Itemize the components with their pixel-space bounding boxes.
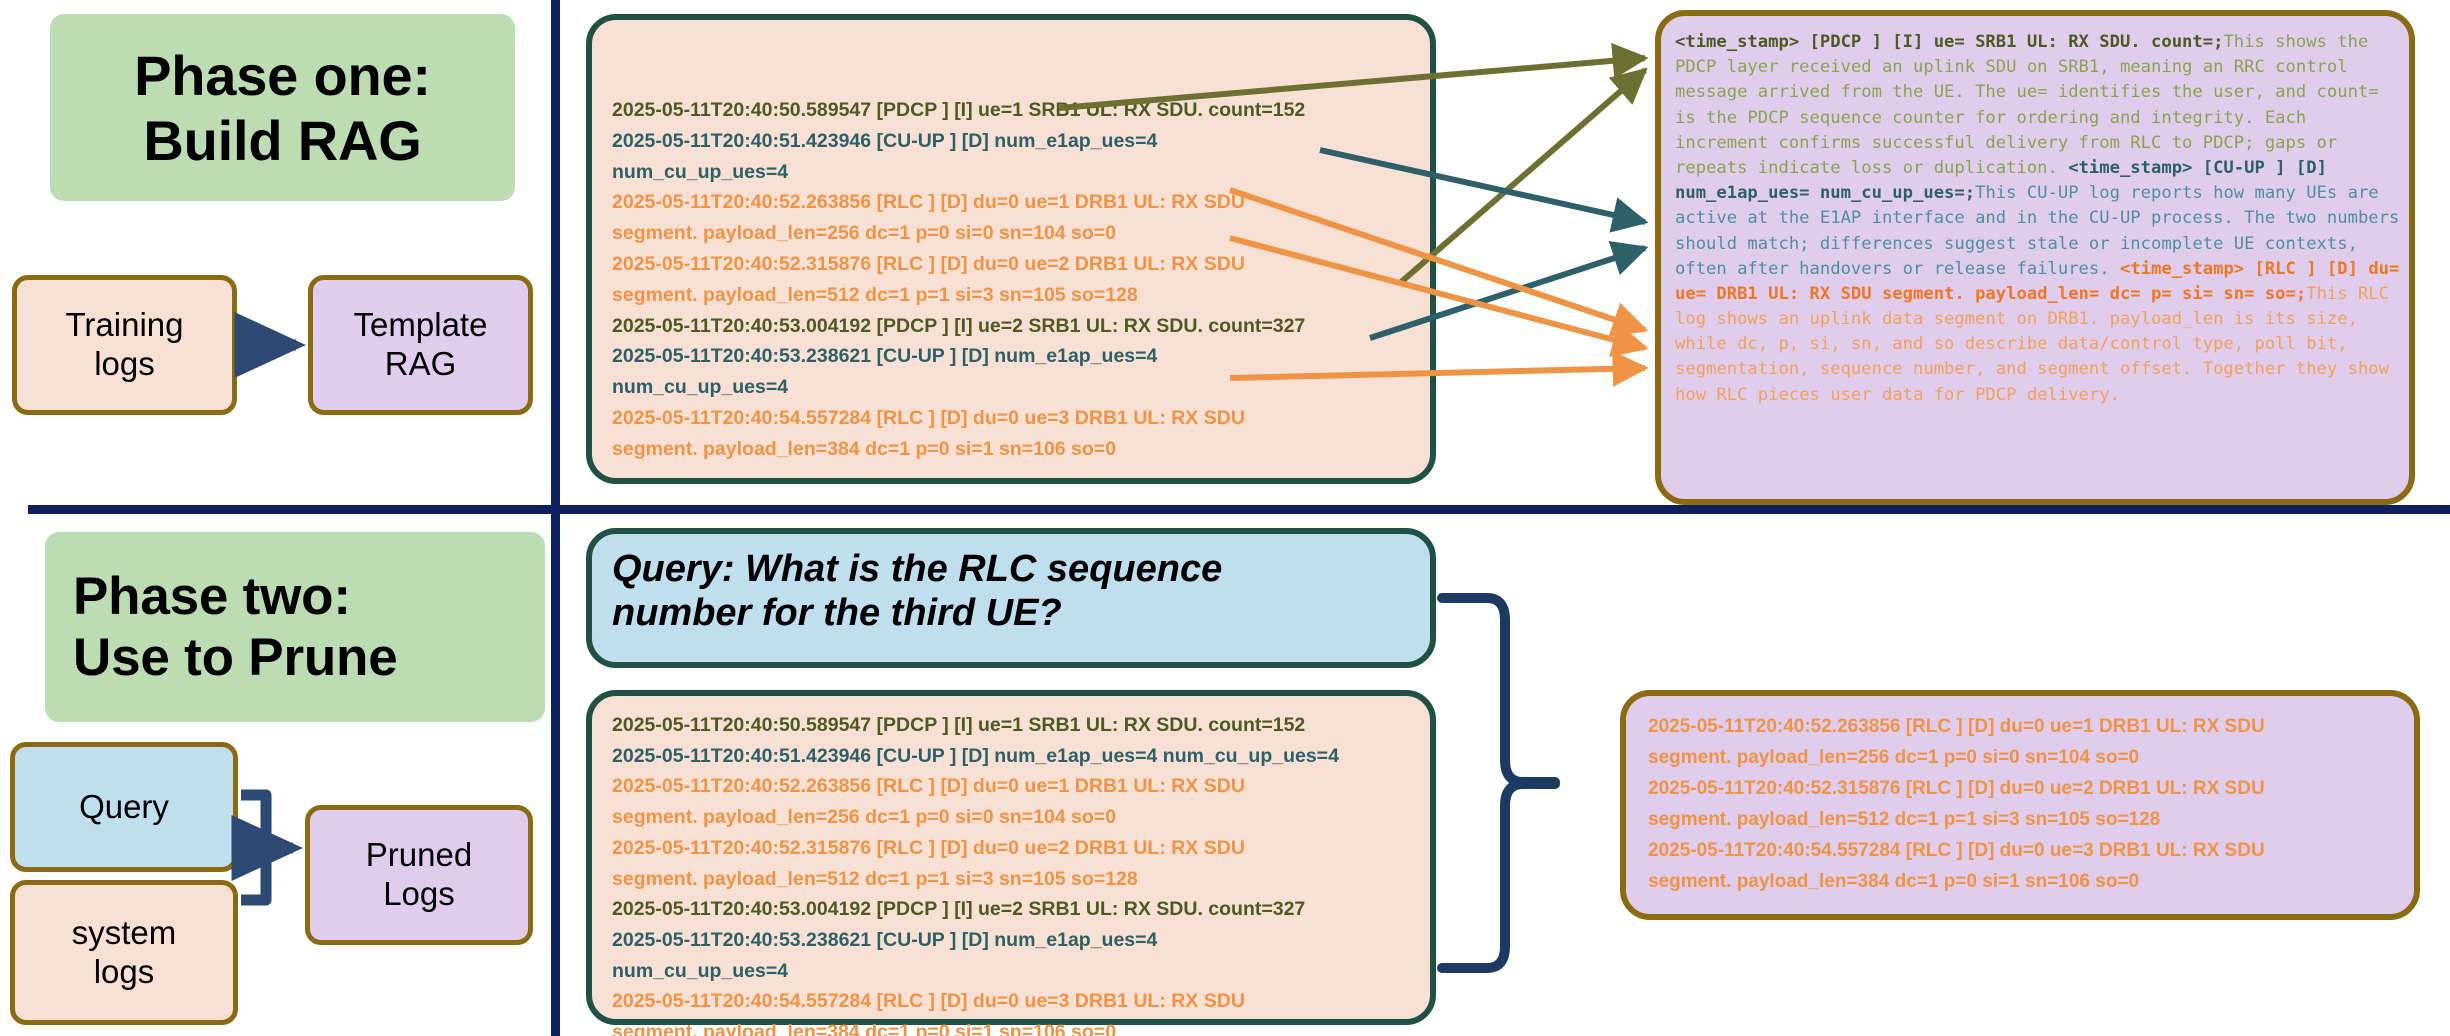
diagram-canvas: Phase one: Build RAG Training logs Templ… — [0, 0, 2450, 1036]
template-rag-box[interactable]: Template RAG — [308, 275, 533, 415]
query-text: Query: What is the RLC sequence number f… — [612, 547, 1422, 635]
phase-two-log-line: 2025-05-11T20:40:53.004192 [PDCP ] [I] u… — [612, 894, 1424, 925]
phase-one-explanation-text: <time_stamp> [PDCP ] [I] ue= SRB1 UL: RX… — [1675, 30, 2405, 408]
explanation-body: This shows the PDCP layer received an up… — [1675, 32, 2389, 178]
vertical-divider-top — [551, 0, 560, 508]
phase-two-log-line: 2025-05-11T20:40:53.238621 [CU-UP ] [D] … — [612, 925, 1424, 956]
pruned-log-line: segment. payload_len=512 dc=1 p=1 si=3 s… — [1648, 805, 2418, 836]
phase-one-banner: Phase one: Build RAG — [50, 14, 515, 201]
phase-one-log-line: 2025-05-11T20:40:50.589547 [PDCP ] [I] u… — [612, 95, 1422, 126]
phase-two-log-line: 2025-05-11T20:40:50.589547 [PDCP ] [I] u… — [612, 710, 1424, 741]
vertical-divider-bottom — [551, 514, 560, 1036]
phase-one-log-text: 2025-05-11T20:40:50.589547 [PDCP ] [I] u… — [612, 95, 1422, 465]
phase-two-title-line2: Use to Prune — [73, 627, 398, 688]
phase-one-log-line: num_cu_up_ues=4 — [612, 372, 1422, 403]
pruned-log-line: segment. payload_len=256 dc=1 p=0 si=0 s… — [1648, 743, 2418, 774]
phase-one-title-line1: Phase one: — [134, 43, 431, 108]
horizontal-divider — [28, 505, 2450, 514]
phase-two-log-line: segment. payload_len=384 dc=1 p=0 si=1 s… — [612, 1017, 1424, 1036]
phase-one-log-line: num_cu_up_ues=4 — [612, 157, 1422, 188]
phase-two-log-line: 2025-05-11T20:40:52.263856 [RLC ] [D] du… — [612, 771, 1424, 802]
query-line-1: Query: What is the RLC sequence — [612, 548, 1222, 590]
phase-two-log-line: segment. payload_len=256 dc=1 p=0 si=0 s… — [612, 802, 1424, 833]
phase-two-log-line: num_cu_up_ues=4 — [612, 956, 1424, 987]
phase-two-banner: Phase two: Use to Prune — [45, 532, 545, 722]
phase-one-log-line: segment. payload_len=256 dc=1 p=0 si=0 s… — [612, 218, 1422, 249]
explanation-block: <time_stamp> [RLC ] [D] du= ue= DRB1 UL:… — [1675, 259, 2410, 405]
pruned-log-line: segment. payload_len=384 dc=1 p=0 si=1 s… — [1648, 867, 2418, 898]
phase-one-log-line: segment. payload_len=512 dc=1 p=1 si=3 s… — [612, 280, 1422, 311]
phase-one-log-line: 2025-05-11T20:40:52.263856 [RLC ] [D] du… — [612, 187, 1422, 218]
phase-one-log-line: 2025-05-11T20:40:53.238621 [CU-UP ] [D] … — [612, 341, 1422, 372]
phase-two-log-line: 2025-05-11T20:40:51.423946 [CU-UP ] [D] … — [612, 741, 1424, 772]
phase-one-log-line: 2025-05-11T20:40:53.004192 [PDCP ] [I] u… — [612, 311, 1422, 342]
pruned-log-line: 2025-05-11T20:40:52.315876 [RLC ] [D] du… — [1648, 774, 2418, 805]
arrow-pdcp-2 — [1400, 70, 1645, 283]
pruned-log-line: 2025-05-11T20:40:54.557284 [RLC ] [D] du… — [1648, 836, 2418, 867]
phase-two-log-line: 2025-05-11T20:40:52.315876 [RLC ] [D] du… — [612, 833, 1424, 864]
phase-one-log-line: 2025-05-11T20:40:51.423946 [CU-UP ] [D] … — [612, 126, 1422, 157]
query-input-label: Query — [79, 788, 169, 827]
pruned-output-text: 2025-05-11T20:40:52.263856 [RLC ] [D] du… — [1648, 712, 2418, 898]
explanation-block: <time_stamp> [PDCP ] [I] ue= SRB1 UL: RX… — [1675, 32, 2389, 178]
phase-two-log-text: 2025-05-11T20:40:50.589547 [PDCP ] [I] u… — [612, 710, 1424, 1036]
training-logs-label: Training logs — [66, 306, 184, 384]
explanation-header: <time_stamp> [PDCP ] [I] ue= SRB1 UL: RX… — [1675, 32, 2223, 52]
query-input-box[interactable]: Query — [10, 742, 238, 872]
arrow-inputs-to-pruned — [241, 795, 293, 900]
training-logs-box[interactable]: Training logs — [12, 275, 237, 415]
phase-one-log-line: 2025-05-11T20:40:52.315876 [RLC ] [D] du… — [612, 249, 1422, 280]
phase-two-log-line: segment. payload_len=512 dc=1 p=1 si=3 s… — [612, 864, 1424, 895]
pruned-log-line: 2025-05-11T20:40:52.263856 [RLC ] [D] du… — [1648, 712, 2418, 743]
phase-two-log-line: 2025-05-11T20:40:54.557284 [RLC ] [D] du… — [612, 986, 1424, 1017]
template-rag-label: Template RAG — [354, 306, 488, 384]
brace-query-logs-to-output — [1442, 598, 1555, 968]
pruned-logs-label: Pruned Logs — [366, 836, 472, 914]
phase-one-log-line: segment. payload_len=384 dc=1 p=0 si=1 s… — [612, 434, 1422, 465]
phase-one-title-line2: Build RAG — [143, 108, 421, 173]
system-logs-box[interactable]: system logs — [10, 880, 238, 1025]
query-line-2: number for the third UE? — [612, 592, 1062, 634]
phase-two-title-line1: Phase two: — [73, 566, 351, 627]
pruned-logs-box[interactable]: Pruned Logs — [305, 805, 533, 945]
system-logs-label: system logs — [72, 914, 177, 992]
phase-one-log-line: 2025-05-11T20:40:54.557284 [RLC ] [D] du… — [612, 403, 1422, 434]
